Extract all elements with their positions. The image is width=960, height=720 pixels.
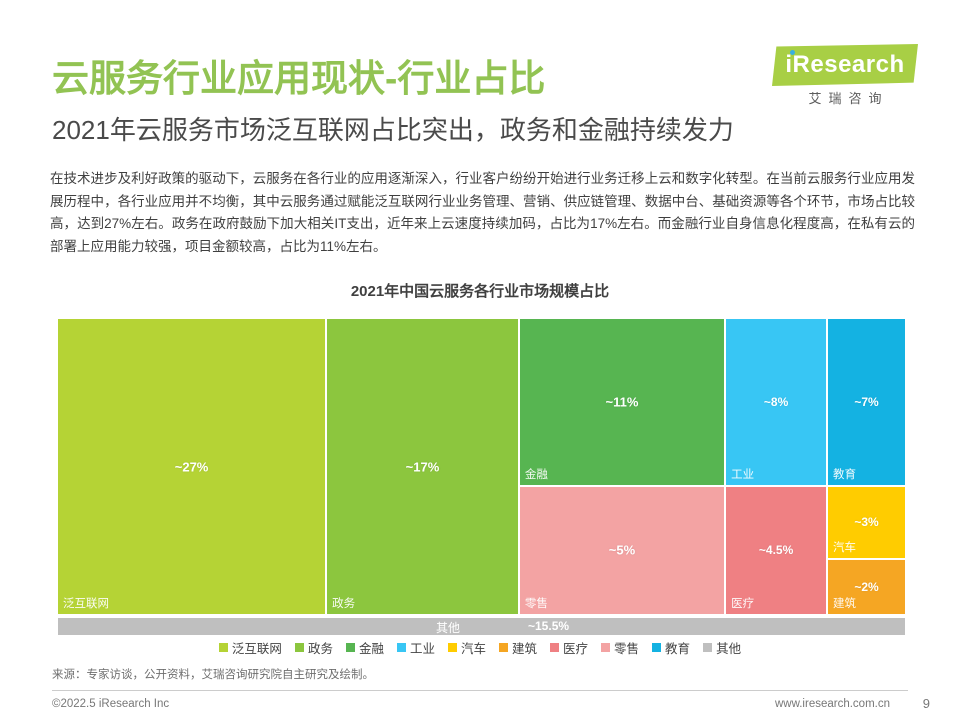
legend-item-2[interactable]: 金融 xyxy=(346,638,384,657)
tile-value: ~7% xyxy=(828,395,905,409)
page-subtitle: 2021年云服务市场泛互联网占比突出，政务和金融持续发力 xyxy=(52,110,734,147)
tile-value: ~3% xyxy=(828,515,905,529)
tile-value: ~8% xyxy=(726,395,826,409)
legend-swatch-icon xyxy=(448,643,457,652)
legend-label: 建筑 xyxy=(512,638,537,657)
body-paragraph: 在技术进步及利好政策的驱动下，云服务在各行业的应用逐渐深入，行业客户纷纷开始进行… xyxy=(50,168,915,258)
treemap-chart: ~27%泛互联网~17%政务~11%金融~5%零售~8%工业~4.5%医疗~7%… xyxy=(57,318,906,615)
legend-label: 工业 xyxy=(410,638,435,657)
slide-header: 云服务行业应用现状-行业占比 2021年云服务市场泛互联网占比突出，政务和金融持… xyxy=(0,0,960,160)
treemap-tile-6[interactable]: ~7%教育 xyxy=(827,318,906,486)
tile-value: ~11% xyxy=(520,394,724,409)
treemap-tile-other[interactable]: 其他 ~15.5% xyxy=(57,617,906,636)
chart-title: 2021年中国云服务各行业市场规模占比 xyxy=(0,280,960,301)
legend-swatch-icon xyxy=(397,643,406,652)
legend-swatch-icon xyxy=(550,643,559,652)
legend-swatch-icon xyxy=(703,643,712,652)
logo-wordmark-cn: 艾瑞咨询 xyxy=(772,88,918,107)
legend-item-5[interactable]: 建筑 xyxy=(499,638,537,657)
legend-item-3[interactable]: 工业 xyxy=(397,638,435,657)
legend-swatch-icon xyxy=(346,643,355,652)
page-number: 9 xyxy=(923,696,930,711)
treemap-tile-0[interactable]: ~27%泛互联网 xyxy=(57,318,326,615)
tile-label: 金融 xyxy=(525,466,548,482)
legend-label: 零售 xyxy=(614,638,639,657)
treemap-tile-7[interactable]: ~3%汽车 xyxy=(827,486,906,559)
legend-swatch-icon xyxy=(219,643,228,652)
legend-item-8[interactable]: 教育 xyxy=(652,638,690,657)
tile-value: ~5% xyxy=(520,543,724,558)
legend-label: 政务 xyxy=(308,638,333,657)
treemap-tile-8[interactable]: ~2%建筑 xyxy=(827,559,906,615)
legend-label: 教育 xyxy=(665,638,690,657)
tile-label: 汽车 xyxy=(833,539,856,555)
legend-item-9[interactable]: 其他 xyxy=(703,638,741,657)
source-note: 来源：专家访谈，公开资料，艾瑞咨询研究院自主研究及绘制。 xyxy=(52,666,374,682)
legend-swatch-icon xyxy=(499,643,508,652)
tile-value-other: ~15.5% xyxy=(528,619,569,633)
copyright-text: ©2022.5 iResearch Inc xyxy=(52,698,169,710)
slide-page: 云服务行业应用现状-行业占比 2021年云服务市场泛互联网占比突出，政务和金融持… xyxy=(0,0,960,720)
treemap-tile-2[interactable]: ~11%金融 xyxy=(519,318,725,486)
legend-item-7[interactable]: 零售 xyxy=(601,638,639,657)
legend-item-6[interactable]: 医疗 xyxy=(550,638,588,657)
treemap-tile-3[interactable]: ~5%零售 xyxy=(519,486,725,615)
legend-item-0[interactable]: 泛互联网 xyxy=(219,638,282,657)
tile-label: 政务 xyxy=(332,595,355,611)
legend-label: 金融 xyxy=(359,638,384,657)
tile-label: 泛互联网 xyxy=(63,595,109,611)
legend-item-4[interactable]: 汽车 xyxy=(448,638,486,657)
chart-legend: 泛互联网政务金融工业汽车建筑医疗零售教育其他 xyxy=(0,638,960,657)
logo-dot-icon xyxy=(790,50,795,55)
tile-label: 医疗 xyxy=(731,595,754,611)
footer-divider xyxy=(52,690,908,691)
tile-value: ~27% xyxy=(58,459,325,474)
tile-value: ~17% xyxy=(327,459,518,474)
legend-item-1[interactable]: 政务 xyxy=(295,638,333,657)
legend-label: 其他 xyxy=(716,638,741,657)
legend-swatch-icon xyxy=(295,643,304,652)
tile-label: 建筑 xyxy=(833,595,856,611)
tile-label: 零售 xyxy=(525,595,548,611)
legend-label: 汽车 xyxy=(461,638,486,657)
tile-label: 教育 xyxy=(833,466,856,482)
page-title: 云服务行业应用现状-行业占比 xyxy=(52,48,545,102)
website-url: www.iresearch.com.cn xyxy=(775,698,890,710)
tile-value: ~4.5% xyxy=(726,543,826,557)
legend-label: 医疗 xyxy=(563,638,588,657)
treemap-tile-5[interactable]: ~4.5%医疗 xyxy=(725,486,827,615)
tile-value: ~2% xyxy=(828,580,905,594)
legend-swatch-icon xyxy=(652,643,661,652)
treemap-tile-4[interactable]: ~8%工业 xyxy=(725,318,827,486)
iresearch-logo: iResearch 艾瑞咨询 xyxy=(758,44,918,110)
legend-label: 泛互联网 xyxy=(232,638,282,657)
legend-swatch-icon xyxy=(601,643,610,652)
tile-label-other: 其他 xyxy=(436,619,460,636)
tile-label: 工业 xyxy=(731,466,754,482)
treemap-tile-1[interactable]: ~17%政务 xyxy=(326,318,519,615)
